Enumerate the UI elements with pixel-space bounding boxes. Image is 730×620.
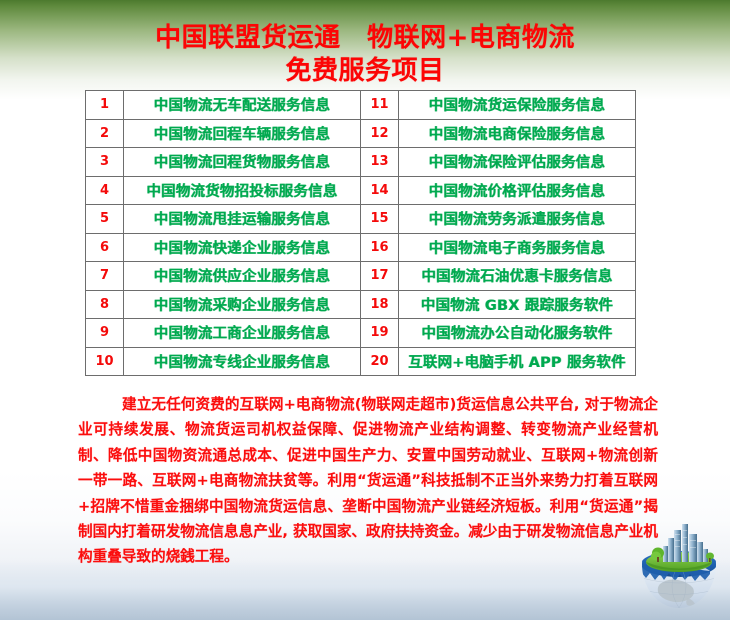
item-label[interactable]: 中国物流采购企业服务信息 bbox=[124, 290, 361, 319]
slide-canvas: 中国联盟货运通 物联网+电商物流 免费服务项目 1 中国物流无车配送服务信息 1… bbox=[0, 0, 730, 620]
table-row: 2 中国物流回程车辆服务信息 12 中国物流电商保险服务信息 bbox=[86, 119, 636, 148]
page-title: 中国联盟货运通 物联网+电商物流 免费服务项目 bbox=[0, 22, 730, 88]
item-number: 14 bbox=[361, 176, 399, 205]
item-label[interactable]: 中国物流电商保险服务信息 bbox=[399, 119, 636, 148]
item-label[interactable]: 中国物流货运保险服务信息 bbox=[399, 91, 636, 120]
item-number: 10 bbox=[86, 347, 124, 376]
item-number: 15 bbox=[361, 205, 399, 234]
earth-city-globe-icon bbox=[630, 520, 728, 616]
description-paragraph: 建立无任何资费的互联网+电商物流(物联网走超市)货运信息公共平台, 对于物流企业… bbox=[78, 392, 658, 570]
item-number: 4 bbox=[86, 176, 124, 205]
table-row: 4 中国物流货物招投标服务信息 14 中国物流价格评估服务信息 bbox=[86, 176, 636, 205]
item-label[interactable]: 中国物流货物招投标服务信息 bbox=[124, 176, 361, 205]
item-label[interactable]: 中国物流电子商务服务信息 bbox=[399, 233, 636, 262]
table-row: 7 中国物流供应企业服务信息 17 中国物流石油优惠卡服务信息 bbox=[86, 262, 636, 291]
item-label[interactable]: 中国物流劳务派遣服务信息 bbox=[399, 205, 636, 234]
item-label[interactable]: 中国物流工商企业服务信息 bbox=[124, 319, 361, 348]
item-number: 7 bbox=[86, 262, 124, 291]
item-number: 8 bbox=[86, 290, 124, 319]
item-number: 20 bbox=[361, 347, 399, 376]
item-number: 19 bbox=[361, 319, 399, 348]
item-label[interactable]: 中国物流石油优惠卡服务信息 bbox=[399, 262, 636, 291]
item-number: 9 bbox=[86, 319, 124, 348]
item-number: 6 bbox=[86, 233, 124, 262]
table-row: 5 中国物流甩挂运输服务信息 15 中国物流劳务派遣服务信息 bbox=[86, 205, 636, 234]
item-label[interactable]: 中国物流回程车辆服务信息 bbox=[124, 119, 361, 148]
item-number: 13 bbox=[361, 148, 399, 177]
item-number: 17 bbox=[361, 262, 399, 291]
item-label[interactable]: 中国物流保险评估服务信息 bbox=[399, 148, 636, 177]
title-line-1: 中国联盟货运通 物联网+电商物流 bbox=[0, 22, 730, 55]
service-table-body: 1 中国物流无车配送服务信息 11 中国物流货运保险服务信息 2 中国物流回程车… bbox=[86, 91, 636, 376]
item-number: 1 bbox=[86, 91, 124, 120]
title-line-2: 免费服务项目 bbox=[0, 55, 730, 88]
table-row: 10 中国物流专线企业服务信息 20 互联网+电脑手机 APP 服务软件 bbox=[86, 347, 636, 376]
item-label[interactable]: 中国物流快递企业服务信息 bbox=[124, 233, 361, 262]
item-number: 16 bbox=[361, 233, 399, 262]
item-label[interactable]: 互联网+电脑手机 APP 服务软件 bbox=[399, 347, 636, 376]
item-number: 5 bbox=[86, 205, 124, 234]
item-number: 3 bbox=[86, 148, 124, 177]
item-label[interactable]: 中国物流价格评估服务信息 bbox=[399, 176, 636, 205]
item-label[interactable]: 中国物流无车配送服务信息 bbox=[124, 91, 361, 120]
item-number: 18 bbox=[361, 290, 399, 319]
table-row: 6 中国物流快递企业服务信息 16 中国物流电子商务服务信息 bbox=[86, 233, 636, 262]
item-label[interactable]: 中国物流专线企业服务信息 bbox=[124, 347, 361, 376]
item-number: 11 bbox=[361, 91, 399, 120]
table-row: 3 中国物流回程货物服务信息 13 中国物流保险评估服务信息 bbox=[86, 148, 636, 177]
item-label[interactable]: 中国物流供应企业服务信息 bbox=[124, 262, 361, 291]
item-label[interactable]: 中国物流办公自动化服务软件 bbox=[399, 319, 636, 348]
item-number: 2 bbox=[86, 119, 124, 148]
item-label[interactable]: 中国物流甩挂运输服务信息 bbox=[124, 205, 361, 234]
table-row: 9 中国物流工商企业服务信息 19 中国物流办公自动化服务软件 bbox=[86, 319, 636, 348]
item-label[interactable]: 中国物流回程货物服务信息 bbox=[124, 148, 361, 177]
item-number: 12 bbox=[361, 119, 399, 148]
item-label[interactable]: 中国物流 GBX 跟踪服务软件 bbox=[399, 290, 636, 319]
service-items-table: 1 中国物流无车配送服务信息 11 中国物流货运保险服务信息 2 中国物流回程车… bbox=[85, 90, 636, 376]
table-row: 8 中国物流采购企业服务信息 18 中国物流 GBX 跟踪服务软件 bbox=[86, 290, 636, 319]
table-row: 1 中国物流无车配送服务信息 11 中国物流货运保险服务信息 bbox=[86, 91, 636, 120]
